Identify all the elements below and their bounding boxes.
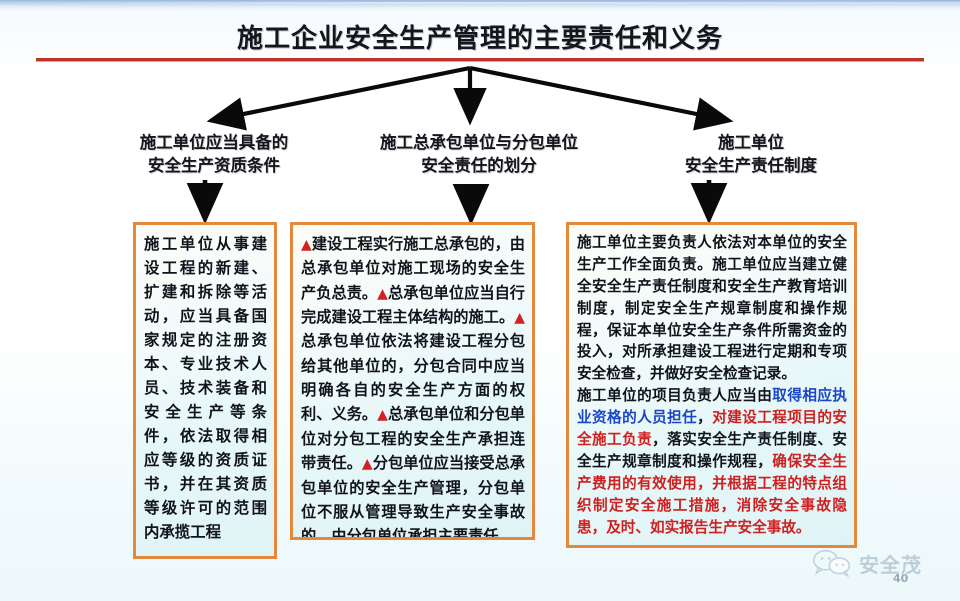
watermark-label: 安全茂 bbox=[859, 549, 922, 578]
bullet-triangle-icon: ▲ bbox=[377, 286, 388, 302]
column-heading-2: 施工总承包单位与分包单位 安全责任的划分 bbox=[345, 131, 613, 178]
wechat-icon bbox=[812, 548, 852, 578]
bullet-triangle-icon: ▲ bbox=[514, 310, 525, 326]
column-heading-3-line2: 安全生产责任制度 bbox=[636, 154, 866, 177]
column-heading-2-line1: 施工总承包单位与分包单位 bbox=[345, 131, 613, 154]
slide-canvas: 施工企业安全生产管理的主要责任和义务 施工单位应当具备的 安全生产资质条件 施工… bbox=[0, 0, 960, 601]
page-number: 40 bbox=[893, 572, 908, 585]
content-box-3-paragraph-1: 施工单位主要负责人依法对本单位的安全生产工作全面负责。施工单位应当建立健全安全生… bbox=[577, 232, 847, 385]
column-heading-1-line1: 施工单位应当具备的 bbox=[108, 131, 320, 154]
content-box-responsibility-system: 施工单位主要负责人依法对本单位的安全生产工作全面负责。施工单位应当建立健全安全生… bbox=[566, 222, 857, 548]
page-title: 施工企业安全生产管理的主要责任和义务 bbox=[0, 18, 960, 55]
content-box-1-text: 施工单位从事建设工程的新建、扩建和拆除等活动，应当具备国家规定的注册资本、专业技… bbox=[144, 232, 267, 544]
content-box-3-paragraph-2: 施工单位的项目负责人应当由取得相应执业资格的人员担任，对建设工程项目的安全施工负… bbox=[577, 385, 847, 538]
column-heading-1-line2: 安全生产资质条件 bbox=[108, 154, 320, 177]
top-strip-highlight bbox=[0, 2, 960, 4]
bullet-triangle-icon: ▲ bbox=[301, 237, 312, 253]
column-heading-3: 施工单位 安全生产责任制度 bbox=[636, 131, 866, 178]
bullet-triangle-icon: ▲ bbox=[362, 456, 373, 472]
bullet-triangle-icon: ▲ bbox=[377, 407, 388, 423]
paragraph-run-black: ， bbox=[697, 409, 712, 426]
content-box-responsibility-split: ▲建设工程实行施工总承包的，由总承包单位对施工现场的安全生产负总责。▲总承包单位… bbox=[290, 222, 535, 540]
title-underline-rule bbox=[36, 58, 924, 61]
column-heading-3-line1: 施工单位 bbox=[636, 131, 866, 154]
column-heading-1: 施工单位应当具备的 安全生产资质条件 bbox=[108, 131, 320, 178]
column-heading-2-line2: 安全责任的划分 bbox=[345, 154, 613, 177]
content-box-2-text: ▲建设工程实行施工总承包的，由总承包单位对施工现场的安全生产负总责。▲总承包单位… bbox=[301, 232, 525, 540]
paragraph-run-black: 施工单位的项目负责人应当由 bbox=[577, 387, 772, 404]
content-box-qualification: 施工单位从事建设工程的新建、扩建和拆除等活动，应当具备国家规定的注册资本、专业技… bbox=[133, 222, 277, 559]
